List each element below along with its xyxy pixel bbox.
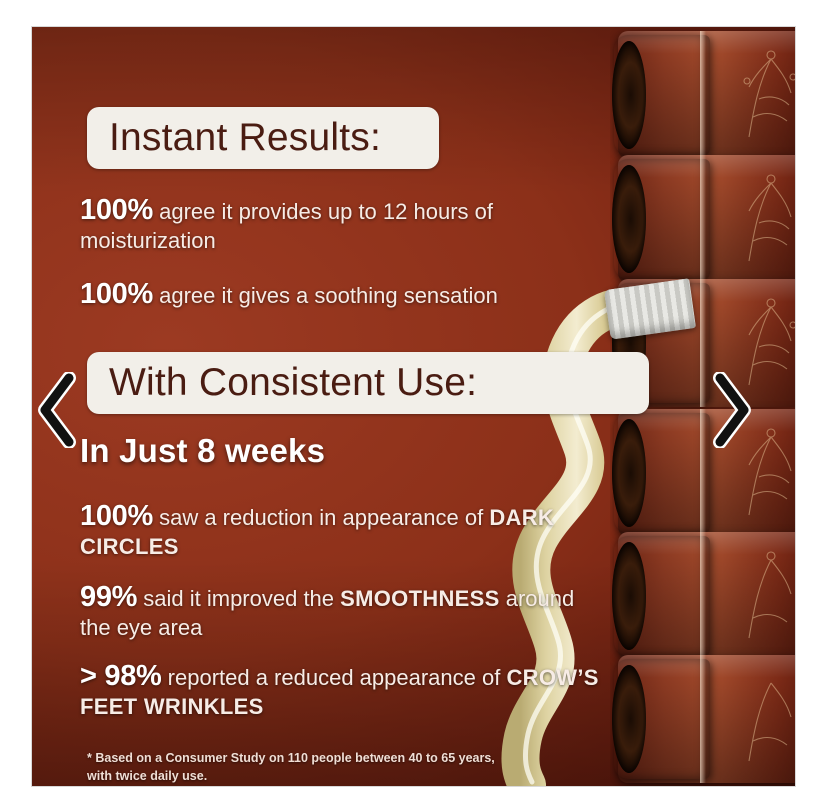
stat-line: 99% said it improved the SMOOTHNESS arou…: [80, 580, 600, 642]
tube-rim: [700, 409, 706, 537]
stat-text: reported a reduced appearance of: [162, 665, 507, 690]
stat-line: 100% saw a reduction in appearance of DA…: [80, 499, 600, 561]
tube-rim: [700, 655, 706, 783]
botanical-pattern-icon: [719, 37, 795, 153]
tube-cap: [614, 536, 710, 656]
tube-cap: [614, 159, 710, 279]
stat-text: saw a reduction in appearance of: [153, 505, 489, 530]
stat-value: 100%: [80, 278, 153, 310]
botanical-pattern-icon: [719, 538, 795, 654]
instant-results-heading: Instant Results:: [87, 107, 439, 169]
product-tube: [618, 532, 795, 660]
stat-line: 100% agree it provides up to 12 hours of…: [80, 193, 600, 255]
botanical-pattern-icon: [719, 661, 795, 777]
tube-rim: [700, 31, 706, 159]
stat-line: 100% agree it gives a soothing sensation: [80, 277, 600, 312]
eight-weeks-subheading: In Just 8 weeks: [80, 432, 325, 470]
chevron-right-icon: [708, 372, 754, 448]
stat-text: said it improved the: [137, 586, 340, 611]
product-tube: [618, 31, 795, 159]
botanical-pattern-icon: [719, 161, 795, 277]
tube-cap: [614, 35, 710, 155]
carousel-viewport: Instant Results: 100% agree it provides …: [32, 27, 795, 786]
product-tube: [618, 155, 795, 283]
stat-value: 100%: [80, 500, 153, 532]
stat-value: 100%: [80, 194, 153, 226]
stat-value: 99%: [80, 581, 137, 613]
stat-value: > 98%: [80, 660, 162, 692]
carousel-prev-button[interactable]: [35, 372, 81, 448]
tube-cap: [614, 413, 710, 533]
tube-cap: [614, 659, 710, 779]
tube-rim: [700, 155, 706, 283]
chevron-left-icon: [35, 372, 81, 448]
study-footnote: * Based on a Consumer Study on 110 peopl…: [87, 749, 517, 785]
stat-text: agree it gives a soothing sensation: [153, 283, 498, 308]
tube-rim: [700, 279, 706, 407]
consistent-use-heading: With Consistent Use:: [87, 352, 649, 414]
tube-rim: [700, 532, 706, 660]
product-tube: [618, 409, 795, 537]
carousel-next-button[interactable]: [708, 372, 754, 448]
product-tube: [618, 655, 795, 783]
stat-line: > 98% reported a reduced appearance of C…: [80, 659, 600, 721]
stat-emphasis: SMOOTHNESS: [340, 586, 499, 611]
